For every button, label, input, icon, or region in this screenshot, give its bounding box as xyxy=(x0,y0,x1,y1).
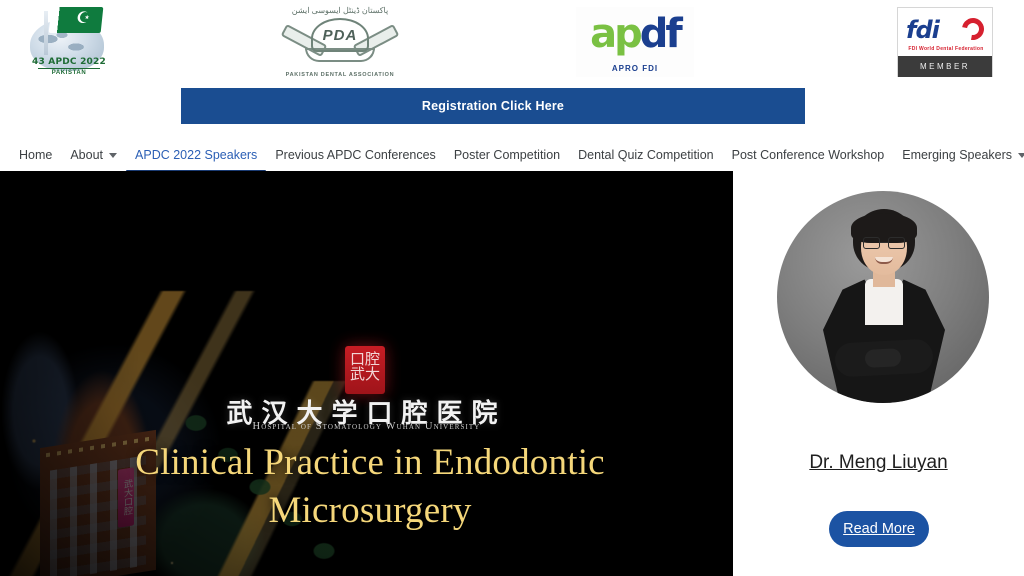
sponsor-fdi-caption: FDI World Dental Federation xyxy=(904,46,988,52)
glasses-icon xyxy=(863,237,905,249)
sponsor-logo-apdf: apdf APRO FDI xyxy=(560,3,710,81)
sponsor-pda-monogram: PDA xyxy=(311,18,369,52)
nav-item-label: Poster Competition xyxy=(454,148,560,162)
lecture-title: Clinical Practice in Endodontic Microsur… xyxy=(40,439,700,535)
avatar xyxy=(777,191,989,403)
sponsor-apdf-word-b: df xyxy=(640,11,680,57)
institution-name-en: Hospital of Stomatology Wuhan University xyxy=(0,421,733,432)
sponsor-fdi-wordmark: fdi xyxy=(906,16,939,44)
divider xyxy=(38,68,100,69)
sponsor-apdf-wordmark: apdf xyxy=(576,13,694,55)
portrait-folded-arms xyxy=(834,338,934,377)
sponsor-logo-apdc-2022-pakistan: 43 APDC 2022 PAKISTAN xyxy=(8,3,128,81)
fdi-swoosh-icon xyxy=(958,14,989,45)
nav-item-previous-apdc-conferences[interactable]: Previous APDC Conferences xyxy=(266,140,445,170)
minar-tower-icon xyxy=(44,11,48,55)
hero-section: 武大口腔 口腔武大 武汉大学口腔医院 Hospital of Stomatolo… xyxy=(0,171,1024,576)
speaker-name-link[interactable]: Dr. Meng Liuyan xyxy=(733,452,1024,474)
sponsor-fdi-member-badge: MEMBER xyxy=(898,56,992,77)
read-more-button[interactable]: Read More xyxy=(829,511,929,547)
sponsor-logo-pakistan-dental-association: پاکستان ڈینٹل ایسوسی ایشن PDA PAKISTAN D… xyxy=(270,3,410,81)
chevron-down-icon xyxy=(109,153,117,158)
sponsor-logo-fdi-member: fdi FDI World Dental Federation MEMBER xyxy=(880,3,1010,81)
nav-item-apdc-2022-speakers[interactable]: APDC 2022 Speakers xyxy=(126,140,266,170)
nav-item-poster-competition[interactable]: Poster Competition xyxy=(445,140,569,170)
nav-item-label: Home xyxy=(19,148,52,162)
lecture-slide[interactable]: 武大口腔 口腔武大 武汉大学口腔医院 Hospital of Stomatolo… xyxy=(0,171,733,576)
sponsor-apdf-word-a: ap xyxy=(590,11,640,57)
sponsor-pda-urdu: پاکستان ڈینٹل ایسوسی ایشن xyxy=(275,6,405,15)
nav-item-label: About xyxy=(70,148,103,162)
nav-item-label: Post Conference Workshop xyxy=(732,148,885,162)
nav-item-dental-quiz-competition[interactable]: Dental Quiz Competition xyxy=(569,140,722,170)
sponsor-apdc-line1: 43 APDC 2022 xyxy=(28,57,110,67)
nav-item-label: Previous APDC Conferences xyxy=(275,148,436,162)
university-seal-icon: 口腔武大 xyxy=(345,346,385,394)
nav-item-label: Dental Quiz Competition xyxy=(578,148,713,162)
nav-item-home[interactable]: Home xyxy=(10,140,61,170)
nav-item-label: APDC 2022 Speakers xyxy=(135,148,257,162)
nav-item-post-conference-workshop[interactable]: Post Conference Workshop xyxy=(723,140,894,170)
chevron-down-icon xyxy=(1018,153,1024,158)
pakistan-flag-icon xyxy=(49,7,104,33)
sponsor-apdc-line2: PAKISTAN xyxy=(28,70,110,76)
nav-item-about[interactable]: About xyxy=(61,140,126,170)
speaker-card: Dr. Meng Liuyan Read More xyxy=(733,171,1024,576)
nav-item-emerging-speakers[interactable]: Emerging Speakers xyxy=(893,140,1024,170)
nav-item-label: Emerging Speakers xyxy=(902,148,1012,162)
sponsor-logo-strip: 43 APDC 2022 PAKISTAN پاکستان ڈینٹل ایسو… xyxy=(0,0,1024,84)
page-root: 43 APDC 2022 PAKISTAN پاکستان ڈینٹل ایسو… xyxy=(0,0,1024,576)
registration-banner-button[interactable]: Registration Click Here xyxy=(181,88,805,124)
sponsor-pda-caption: PAKISTAN DENTAL ASSOCIATION xyxy=(275,72,405,78)
sponsor-apdf-caption: APRO FDI xyxy=(576,64,694,73)
main-navigation: Home About APDC 2022 Speakers Previous A… xyxy=(0,140,1024,172)
